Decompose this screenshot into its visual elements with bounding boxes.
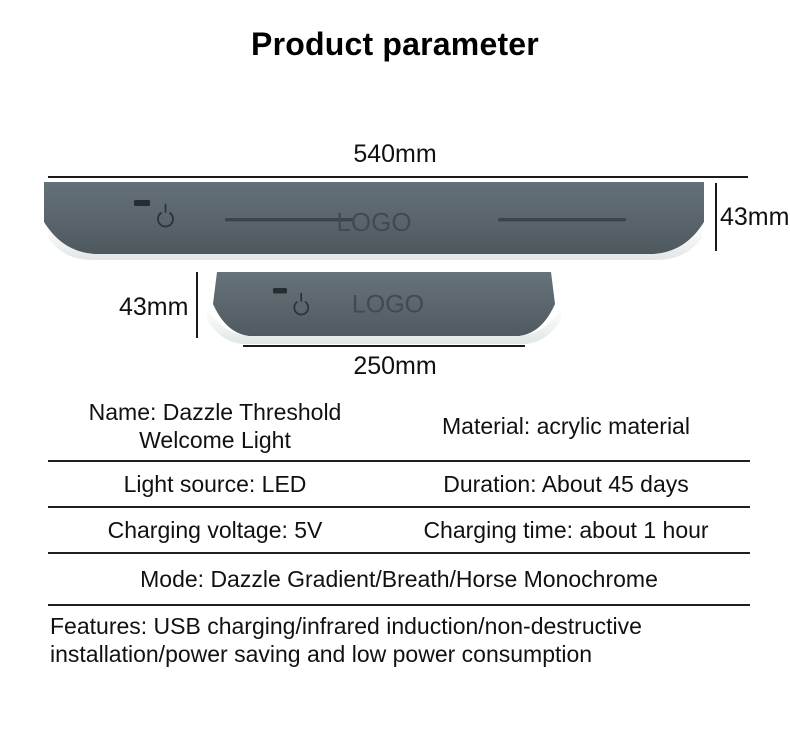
dimension-rule-height-large [715, 183, 717, 251]
light-strip-left [225, 218, 353, 221]
specification-table: Name: Dazzle Threshold Welcome Light Mat… [48, 392, 750, 674]
table-row: Charging voltage: 5V Charging time: abou… [48, 508, 750, 554]
dimension-label-width-large: 540mm [0, 140, 790, 169]
product-parameter-page: Product parameter 540mm [0, 0, 790, 745]
dimension-label-height-small: 43mm [119, 293, 188, 322]
light-strip-right [498, 218, 626, 221]
led-indicator [134, 200, 150, 206]
dimension-rule-width-small [243, 345, 525, 347]
product-image-small: LOGO [203, 272, 565, 344]
dimension-label-width-small: 250mm [0, 352, 790, 381]
spec-charging-voltage: Charging voltage: 5V [48, 510, 382, 550]
led-indicator [273, 288, 287, 294]
product-diagram: 540mm [0, 0, 790, 390]
dimension-rule-height-small [196, 272, 198, 338]
spec-charging-time: Charging time: about 1 hour [382, 510, 750, 550]
dimension-rule-width-large [48, 176, 748, 178]
table-row: Name: Dazzle Threshold Welcome Light Mat… [48, 392, 750, 462]
product-image-large: LOGO [42, 182, 706, 260]
spec-duration: Duration: About 45 days [382, 464, 750, 504]
table-row: Features: USB charging/infrared inductio… [48, 606, 750, 674]
table-row: Mode: Dazzle Gradient/Breath/Horse Monoc… [48, 554, 750, 606]
table-row: Light source: LED Duration: About 45 day… [48, 462, 750, 508]
spec-name: Name: Dazzle Threshold Welcome Light [48, 392, 382, 460]
spec-features: Features: USB charging/infrared inductio… [48, 606, 750, 674]
product-logo-small: LOGO [352, 291, 424, 319]
product-logo-large: LOGO [336, 207, 411, 237]
spec-light-source: Light source: LED [48, 464, 382, 504]
dimension-label-height-large: 43mm [720, 203, 789, 232]
spec-material: Material: acrylic material [382, 406, 750, 446]
spec-mode: Mode: Dazzle Gradient/Breath/Horse Monoc… [48, 559, 750, 599]
